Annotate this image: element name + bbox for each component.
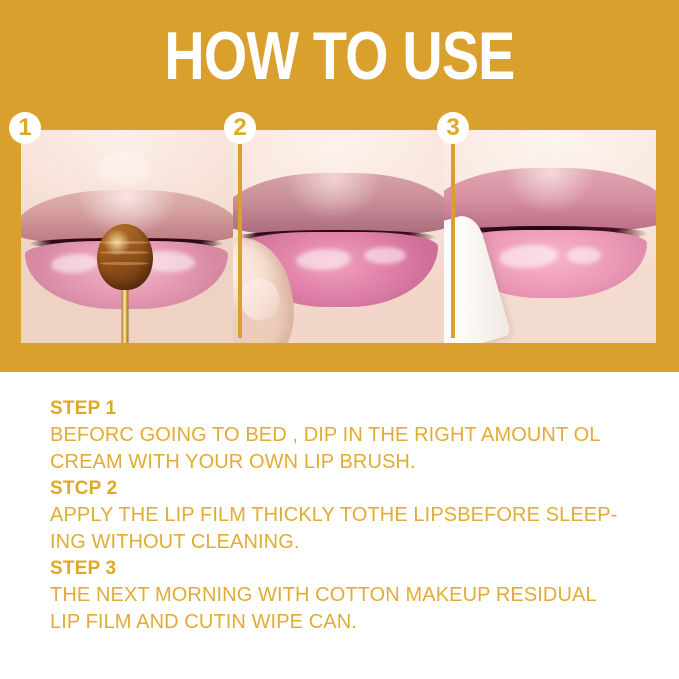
- upper-lip: [233, 173, 445, 237]
- photo-panel-step-1: [21, 130, 233, 343]
- step-badge-2: 2: [224, 112, 256, 144]
- photo-strip: [21, 130, 656, 343]
- step-badge-3: 3: [437, 112, 469, 144]
- step-3-body: THE NEXT MORNING WITH COTTON MAKEUP RESI…: [50, 582, 650, 636]
- photo-panel-step-3: [444, 130, 656, 343]
- step-3-heading: STEP 3: [50, 556, 650, 582]
- applicator-band: [100, 262, 149, 265]
- step-1-heading: STEP 1: [50, 396, 650, 422]
- step-2-body: APPLY THE LIP FILM THICKLY TOTHE LIPSBEF…: [50, 502, 650, 556]
- panel-divider: [238, 126, 242, 338]
- page-title: HOW TO USE: [61, 20, 618, 92]
- lip-highlight: [567, 247, 601, 264]
- applicator-band: [100, 251, 149, 254]
- fingernail: [236, 274, 284, 324]
- step-1-body: BEFORC GOING TO BED , DIP IN THE RIGHT A…: [50, 422, 650, 476]
- applicator-tip-icon: [97, 224, 153, 290]
- applicator-band: [100, 241, 149, 244]
- instructions-block: STEP 1 BEFORC GOING TO BED , DIP IN THE …: [50, 396, 650, 636]
- photo-panel-step-2: [233, 130, 445, 343]
- how-to-use-infographic: HOW TO USE: [0, 0, 679, 679]
- panel-divider: [451, 126, 455, 338]
- step-2-heading: STCP 2: [50, 476, 650, 502]
- step-badge-1: 1: [9, 112, 41, 144]
